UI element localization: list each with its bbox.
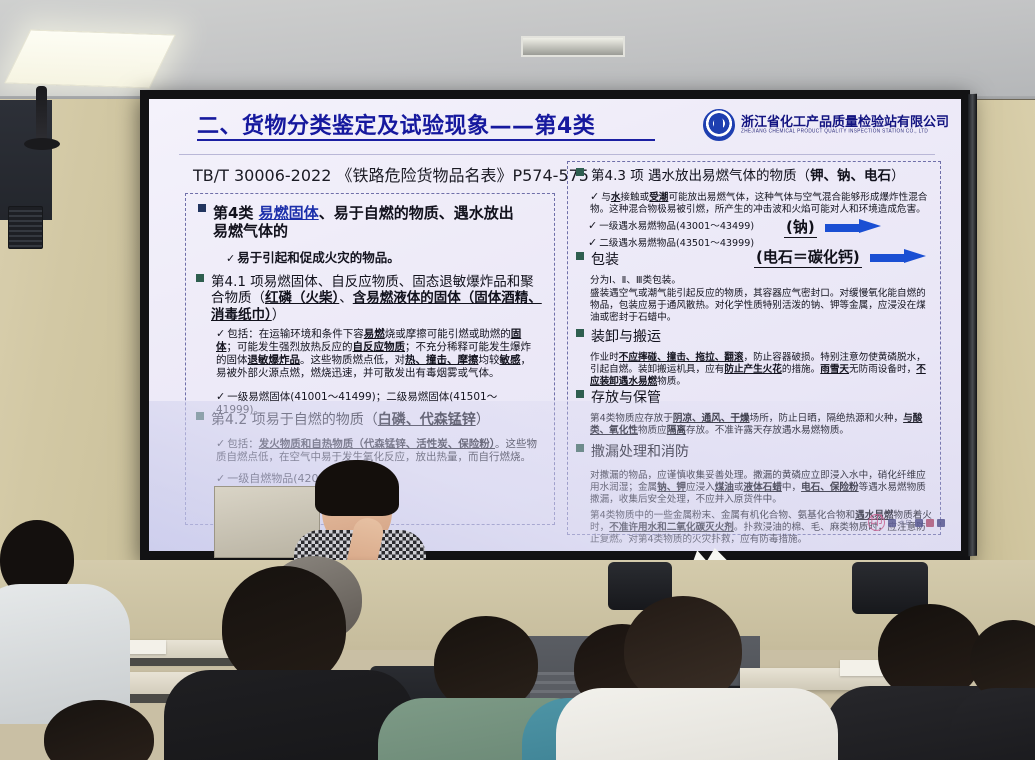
left-item3-detail: 包括：发火物质和自热物质（代森锰锌、活性炭、保险粉）。这些物质自燃点低，在空气中… [216,437,540,464]
spill-heading: 撒漏处理和消防 [591,444,689,461]
attendee-shoulders [164,670,414,760]
wall-speaker-icon [8,206,43,249]
arrow-right-icon [825,221,881,234]
title-underline [197,139,655,141]
handling-line1: 作业时不应摔碰、撞击、拖拉、翻滚，防止容器破损。特别注意勿使黄磷脱水，引起自燃。… [590,352,934,388]
header-divider [179,154,935,155]
standard-reference: TB/T 30006-2022 《铁路危险货物品名表》P574-575 [193,162,589,186]
packaging-line2: 盛装遇空气或潮气能引起反应的物质，其容器应气密封口。对缓慢氧化能自燃的物品，包装… [590,288,934,324]
attendee [44,700,164,760]
microphone-base [24,138,60,150]
microphone [36,86,47,144]
packaging-line1: 分为Ⅰ、Ⅱ、Ⅲ类包装。 [590,275,934,287]
ceiling-light-icon [4,29,176,88]
watermark-icon-2 [915,519,923,527]
slide-watermark: 印 水印 [868,514,945,531]
spill-line1: 对撒漏的物品，应谨慎收集妥善处理。撒漏的黄磷应立即浸入水中，硝化纤维应用水润湿；… [590,470,934,506]
watermark-caption: 水印 [899,518,912,527]
slide-header: 二、货物分类鉴定及试验现象——第4类 浙江省化工产品质量检验站有限公司 ZHEJ… [149,99,961,155]
bullet-icon [576,444,584,452]
attendee [964,620,1035,760]
bullet-icon [576,390,584,398]
ceiling-vent-icon [521,36,625,57]
callout-sodium: (钠) [784,216,881,238]
storage-heading: 存放与保管 [591,390,661,407]
seal-icon: 印 [868,514,885,531]
storage-line1: 第4类物质应存放于阴凉、通风、干燥场所，防止日晒，隔绝热源和火种，与酸类、氧化性… [590,413,934,437]
presenter-hair [315,460,399,516]
left-item2-detail: 包括：在运输环境和条件下容易燃烧或摩擦可能引燃或助燃的固体；可能发生强烈放热反应… [216,327,536,381]
attendee-shoulders [556,688,838,760]
left-item1-sub: 易于引起和促成火灾的物品。 [226,250,526,266]
left-item3-heading: 第4.2 项易于自燃的物质（白磷、代森锰锌） [211,412,490,429]
company-seal-icon [703,109,735,141]
right-item43-detail: 与水接触或受潮可能放出易燃气体，这种气体与空气混合能够形成爆炸性混合物。这种混合… [590,190,938,216]
bullet-icon [576,168,584,176]
right-item43-grade1: 一级遇水易燃物品(43001～43499) [588,219,788,233]
packaging-heading: 包装 [591,252,619,269]
left-item1-heading: 第4类 易燃固体、易于自燃的物质、遇水放出易燃气体的 [213,204,514,241]
attendee [172,566,402,760]
callout-carbide: (电石＝碳化钙) [754,246,926,268]
classroom-screenshot: 二、货物分类鉴定及试验现象——第4类 浙江省化工产品质量检验站有限公司 ZHEJ… [0,0,1035,760]
company-name-en: ZHEJIANG CHEMICAL PRODUCT QUALITY INSPEC… [741,129,949,135]
attendee [0,520,132,720]
attendee [584,596,824,760]
left-item2-heading: 第4.1 项易燃固体、自反应物质、固态退敏爆炸品和聚合物质（红磷（火柴）、含易燃… [211,274,544,323]
bullet-icon [198,204,206,212]
bullet-icon [576,329,584,337]
presentation-slide: 二、货物分类鉴定及试验现象——第4类 浙江省化工产品质量检验站有限公司 ZHEJ… [149,99,961,551]
company-logo: 浙江省化工产品质量检验站有限公司 ZHEJIANG CHEMICAL PRODU… [703,109,949,141]
slide-title: 二、货物分类鉴定及试验现象——第4类 [197,108,595,140]
bullet-icon [196,412,204,420]
watermark-icon-1 [888,519,896,527]
slide-right-column: 第4.3 项 遇水放出易燃气体的物质（钾、钠、电石） 与水接触或受潮可能放出易燃… [567,161,941,535]
watermark-icon-4 [937,519,945,527]
arrow-right-icon [870,251,926,264]
watermark-icon-3 [926,519,934,527]
right-item43-heading: 第4.3 项 遇水放出易燃气体的物质（钾、钠、电石） [591,168,905,184]
bullet-icon [196,274,204,282]
handling-heading: 装卸与搬运 [591,329,661,346]
attendee-head [44,700,154,760]
bullet-icon [576,252,584,260]
